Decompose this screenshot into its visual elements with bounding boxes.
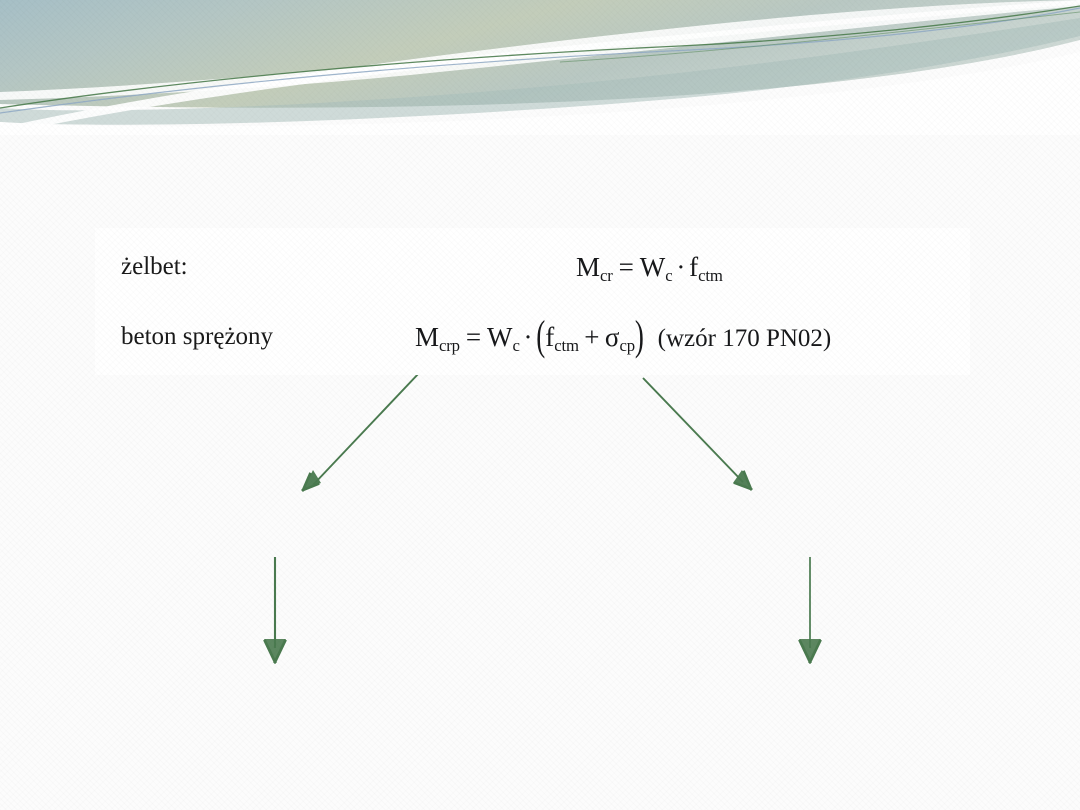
arrow-diagonal-left [303,372,420,490]
arrow-diagonal-right [643,378,751,489]
formula-mcrp: Mcrp=Wc·(fctm+σcp)(wzór 170 PN02) [415,318,831,360]
row-label-beton-sprezony: beton sprężony [121,318,273,356]
header-ribbon-svg [0,0,1080,135]
formula-mcr-lhs: M [576,252,600,282]
formula-mcrp-term3: σ [605,322,620,352]
formula-mcrp-note: (wzór 170 PN02) [658,325,832,352]
formula-mcrp-open-paren: ( [536,306,545,365]
formula-mcrp-term1: W [487,322,512,352]
formula-mcr-multiply: · [676,252,685,282]
formula-mcrp-term3-sub: cp [619,336,634,355]
formula-row-prestressed-concrete: beton sprężony Mcrp=Wc·(fctm+σcp)(wzór 1… [95,318,970,368]
formula-mcr: Mcr=Wc·fctm [576,248,723,290]
formula-mcrp-term2-sub: ctm [554,336,579,355]
formula-mcr-term1: W [640,252,665,282]
formula-mcrp-lhs: M [415,322,439,352]
formula-mcr-term2-sub: ctm [698,266,723,285]
arrow-vertical-left [264,557,286,662]
formula-mcr-term2: f [689,252,698,282]
formula-mcrp-equals: = [466,322,481,352]
formula-mcr-equals: = [619,252,634,282]
formula-content-box: żelbet: Mcr=Wc·fctm beton sprężony Mcrp=… [95,228,970,375]
formula-mcrp-multiply: · [524,322,533,352]
row-label-zelbet: żelbet: [121,248,188,286]
header-ribbon-banner [0,0,1080,135]
formula-mcr-term1-sub: c [665,266,672,285]
formula-mcr-lhs-sub: cr [600,266,613,285]
arrow-vertical-right [799,557,821,662]
formula-mcrp-plus: + [584,322,599,352]
formula-mcrp-lhs-sub: crp [439,336,460,355]
formula-mcrp-term1-sub: c [512,336,519,355]
formula-row-reinforced-concrete: żelbet: Mcr=Wc·fctm [95,248,970,298]
slide-canvas: żelbet: Mcr=Wc·fctm beton sprężony Mcrp=… [0,0,1080,810]
formula-mcrp-close-paren: ) [635,306,644,365]
formula-mcrp-term2: f [545,322,554,352]
